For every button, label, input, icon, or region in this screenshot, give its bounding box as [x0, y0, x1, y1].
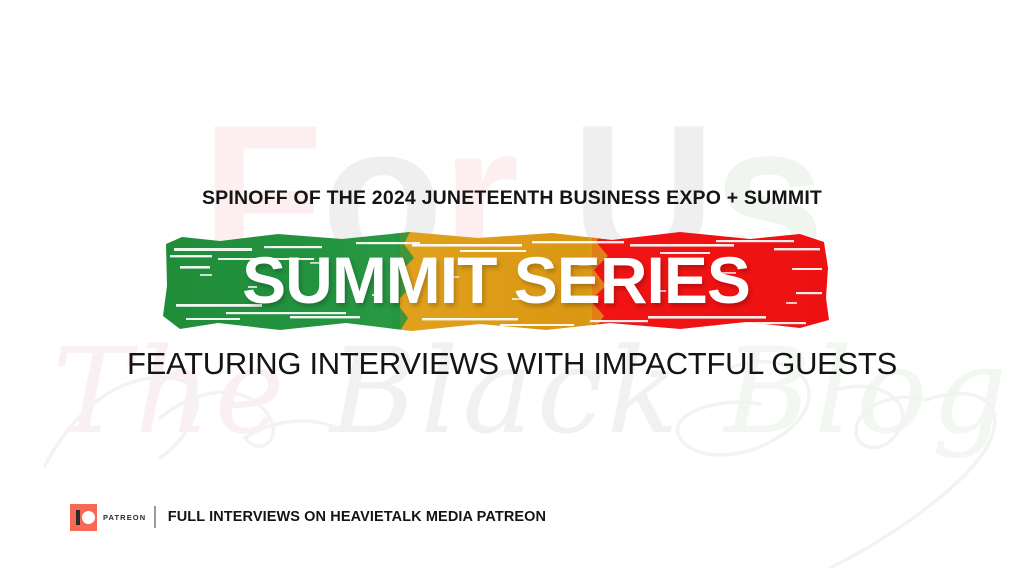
footer-call-to-action: FULL INTERVIEWS ON HEAVIETALK MEDIA PATR… [168, 509, 546, 525]
patreon-logo-lockup[interactable]: PATREON [70, 504, 146, 531]
watermark-script-word-blog: Blog [724, 322, 1011, 460]
subtitle: FEATURING INTERVIEWS WITH IMPACTFUL GUES… [0, 346, 1024, 382]
patreon-icon [70, 504, 97, 531]
watermark-script-word-the: The [52, 322, 330, 460]
tagline: SPINOFF OF THE 2024 JUNETEENTH BUSINESS … [0, 187, 1024, 210]
patreon-wordmark: PATREON [103, 513, 146, 522]
banner-title: SUMMIT SERIES [160, 228, 832, 334]
summit-series-banner: SUMMIT SERIES [160, 228, 832, 334]
promo-graphic-canvas: For Us The Black Blog SPINOFF OF THE 202… [0, 0, 1024, 576]
watermark-script-word-black: Black [330, 322, 724, 460]
patreon-footer: PATREON FULL INTERVIEWS ON HEAVIETALK ME… [70, 503, 546, 531]
footer-divider [154, 506, 156, 528]
patreon-icon-circle [82, 511, 95, 524]
patreon-icon-bar [76, 510, 80, 525]
